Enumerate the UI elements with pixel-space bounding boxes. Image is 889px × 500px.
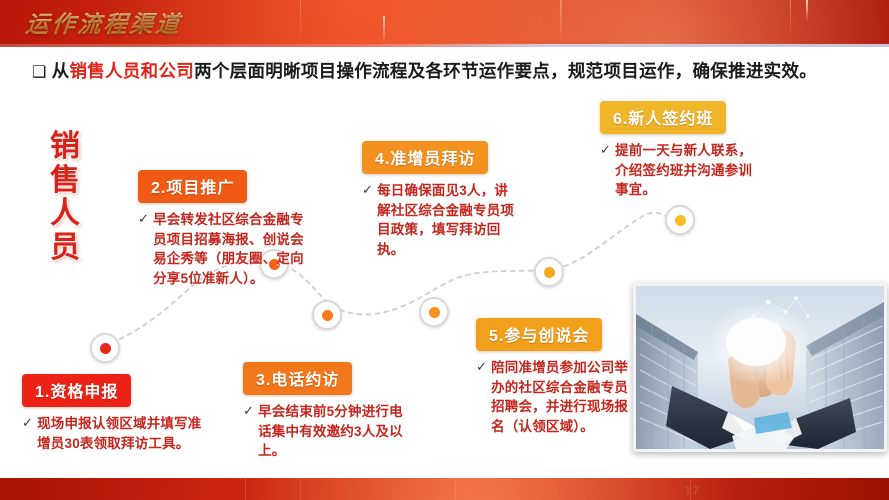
step-card-1-text: 现场申报认领区域并填写准增员30表领取拜访工具。 xyxy=(37,414,204,453)
step-card-3[interactable]: 3.电话约访 ✓ 早会结束前5分钟进行电话集中有效邀约3人及以上。 xyxy=(243,362,413,461)
check-icon: ✓ xyxy=(600,141,611,160)
step-card-6-header: 6.新人签约班 xyxy=(600,101,726,134)
vertical-sales-title: 销 售 人 员 xyxy=(38,130,92,264)
vertical-title-char: 员 xyxy=(38,231,92,265)
check-icon: ✓ xyxy=(243,402,254,421)
step-card-2-header: 2.项目推广 xyxy=(138,170,247,203)
step-node-dot xyxy=(544,267,555,278)
banner-underline xyxy=(0,44,889,47)
step-card-3-body: ✓ 早会结束前5分钟进行电话集中有效邀约3人及以上。 xyxy=(243,402,413,461)
footer-ray xyxy=(245,478,246,500)
vertical-title-char: 售 xyxy=(38,164,92,198)
banner-ray xyxy=(790,0,791,44)
step-card-5-body: ✓ 陪同准增员参加公司举办的社区综合金融专员招聘会，并进行现场报名（认领区域）。 xyxy=(476,358,638,436)
check-icon: ✓ xyxy=(476,358,487,377)
step-node-dot xyxy=(100,343,111,354)
teamwork-photo xyxy=(633,283,887,452)
step-card-2-text: 早会转发社区综合金融专员项目招募海报、创说会易企秀等（朋友圈、定向分享5位准新人… xyxy=(153,210,314,288)
step-card-2-body: ✓ 早会转发社区综合金融专员项目招募海报、创说会易企秀等（朋友圈、定向分享5位准… xyxy=(138,210,314,288)
page-headline: ❑从销售人员和公司两个层面明晰项目操作流程及各环节运作要点，规范项目运作，确保推… xyxy=(32,58,875,83)
step-card-3-text: 早会结束前5分钟进行电话集中有效邀约3人及以上。 xyxy=(258,402,413,461)
check-icon: ✓ xyxy=(22,414,33,433)
check-icon: ✓ xyxy=(138,210,149,229)
page-number: 17 xyxy=(684,483,700,498)
step-node-3[interactable] xyxy=(312,300,342,330)
step-card-4-header: 4.准增员拜访 xyxy=(362,141,488,174)
headline-highlight: 销售人员和公司 xyxy=(69,61,194,81)
step-node-dot xyxy=(322,310,333,321)
step-card-1-header: 1.资格申报 xyxy=(22,374,131,407)
step-card-5-text: 陪同准增员参加公司举办的社区综合金融专员招聘会，并进行现场报名（认领区域）。 xyxy=(491,358,638,436)
step-card-4-text: 每日确保面见3人，讲解社区综合金融专员项目政策，填写拜访回执。 xyxy=(377,181,520,259)
step-node-dot xyxy=(675,215,686,226)
teamwork-photo-graphic xyxy=(636,286,884,449)
headline-prefix: 从 xyxy=(52,61,70,81)
step-card-4[interactable]: 4.准增员拜访 ✓ 每日确保面见3人，讲解社区综合金融专员项目政策，填写拜访回执… xyxy=(362,141,520,259)
banner-sparkle xyxy=(806,0,808,22)
step-node-6[interactable] xyxy=(665,205,695,235)
banner-ray xyxy=(300,0,301,44)
footer-ray xyxy=(455,478,456,500)
step-card-3-header: 3.电话约访 xyxy=(243,362,352,395)
step-node-4[interactable] xyxy=(419,297,449,327)
step-card-6-text: 提前一天与新人联系，介绍签约班并沟通参训事宜。 xyxy=(615,141,760,200)
footer-ray xyxy=(300,478,301,500)
bullet-square-icon: ❑ xyxy=(32,64,47,81)
step-card-4-body: ✓ 每日确保面见3人，讲解社区综合金融专员项目政策，填写拜访回执。 xyxy=(362,181,520,259)
step-card-2[interactable]: 2.项目推广 ✓ 早会转发社区综合金融专员项目招募海报、创说会易企秀等（朋友圈、… xyxy=(138,170,314,288)
check-icon: ✓ xyxy=(362,181,373,200)
step-card-1[interactable]: 1.资格申报 ✓ 现场申报认领区域并填写准增员30表领取拜访工具。 xyxy=(22,374,204,453)
banner-ray xyxy=(560,0,562,44)
step-card-5[interactable]: 5.参与创说会 ✓ 陪同准增员参加公司举办的社区综合金融专员招聘会，并进行现场报… xyxy=(476,318,638,436)
step-card-5-header: 5.参与创说会 xyxy=(476,318,602,351)
top-banner: 运作流程渠道 xyxy=(0,0,889,44)
step-card-6[interactable]: 6.新人签约班 ✓ 提前一天与新人联系，介绍签约班并沟通参训事宜。 xyxy=(600,101,760,200)
bottom-bar xyxy=(0,478,889,500)
step-node-5[interactable] xyxy=(534,257,564,287)
banner-title: 运作流程渠道 xyxy=(24,5,184,39)
step-card-1-body: ✓ 现场申报认领区域并填写准增员30表领取拜访工具。 xyxy=(22,414,204,453)
slide-canvas: 运作流程渠道 ❑从销售人员和公司两个层面明晰项目操作流程及各环节运作要点，规范项… xyxy=(0,0,889,500)
vertical-title-char: 销 xyxy=(38,130,92,164)
vertical-title-char: 人 xyxy=(38,197,92,231)
step-node-dot xyxy=(429,307,440,318)
step-node-1[interactable] xyxy=(90,333,120,363)
step-card-6-body: ✓ 提前一天与新人联系，介绍签约班并沟通参训事宜。 xyxy=(600,141,760,200)
headline-suffix: 两个层面明晰项目操作流程及各环节运作要点，规范项目运作，确保推进实效。 xyxy=(194,61,817,81)
banner-sparkle xyxy=(383,16,385,44)
